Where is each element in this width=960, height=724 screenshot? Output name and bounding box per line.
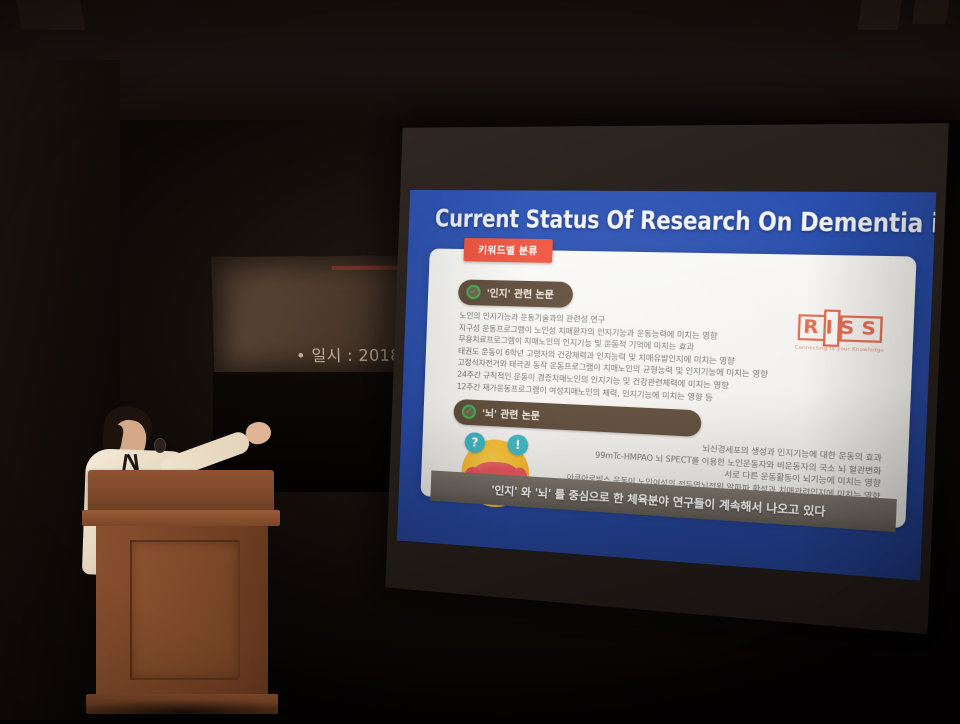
riss-logo-letters: R I S S bbox=[795, 310, 885, 345]
keyword-classification-badge: 키워드별 분류 bbox=[464, 238, 553, 263]
presentation-slide: Current Status Of Research On Dementia i… bbox=[397, 190, 936, 580]
auditorium-stage: 총회 • 일시 : 2018년 5월 Current Status Of Res… bbox=[0, 0, 960, 720]
podium-body bbox=[96, 526, 268, 696]
ceiling-light-fixture bbox=[912, 0, 950, 24]
riss-logo: R I S S Connecting to your Knowledge bbox=[790, 304, 891, 359]
section-label-brain: '뇌' 관련 논문 bbox=[482, 405, 540, 422]
check-circle-icon: ✓ bbox=[466, 285, 481, 300]
check-circle-icon: ✓ bbox=[462, 404, 477, 419]
riss-letter-i: I bbox=[825, 317, 834, 339]
riss-letter-s2: S bbox=[861, 318, 878, 340]
podium-top-surface bbox=[88, 470, 274, 512]
riss-letter-r: R bbox=[803, 316, 820, 338]
microphone-icon bbox=[154, 438, 166, 453]
riss-logo-mark: R I S S bbox=[795, 310, 885, 345]
section-label-cognition: '인지' 관련 논문 bbox=[486, 285, 554, 301]
podium-lip bbox=[82, 510, 280, 526]
slide-content-card: 키워드별 분류 ✓ '인지' 관련 논문 노인의 인지기능과 운동기술과의 관련… bbox=[420, 249, 916, 529]
riss-logo-tagline: Connecting to your Knowledge bbox=[795, 345, 885, 354]
ceiling-light-fixture bbox=[14, 0, 85, 30]
section-header-cognition: ✓ '인지' 관련 논문 bbox=[458, 279, 573, 307]
riss-letter-s1: S bbox=[839, 317, 855, 339]
paper-list-cognition: 노인의 인지기능과 운동기술과의 관련성 연구 지구성 운동프로그램이 노인성 … bbox=[457, 310, 771, 406]
podium-front-panel bbox=[130, 540, 240, 680]
ceiling-light-fixture bbox=[858, 0, 903, 30]
podium-floor-shadow bbox=[60, 700, 310, 724]
exclamation-bubble-icon: ! bbox=[507, 434, 528, 456]
ceiling-area bbox=[0, 0, 960, 120]
wooden-podium bbox=[88, 470, 274, 720]
slide-title: Current Status Of Research On Dementia i… bbox=[434, 204, 921, 239]
projection-screen: Current Status Of Research On Dementia i… bbox=[385, 123, 949, 634]
